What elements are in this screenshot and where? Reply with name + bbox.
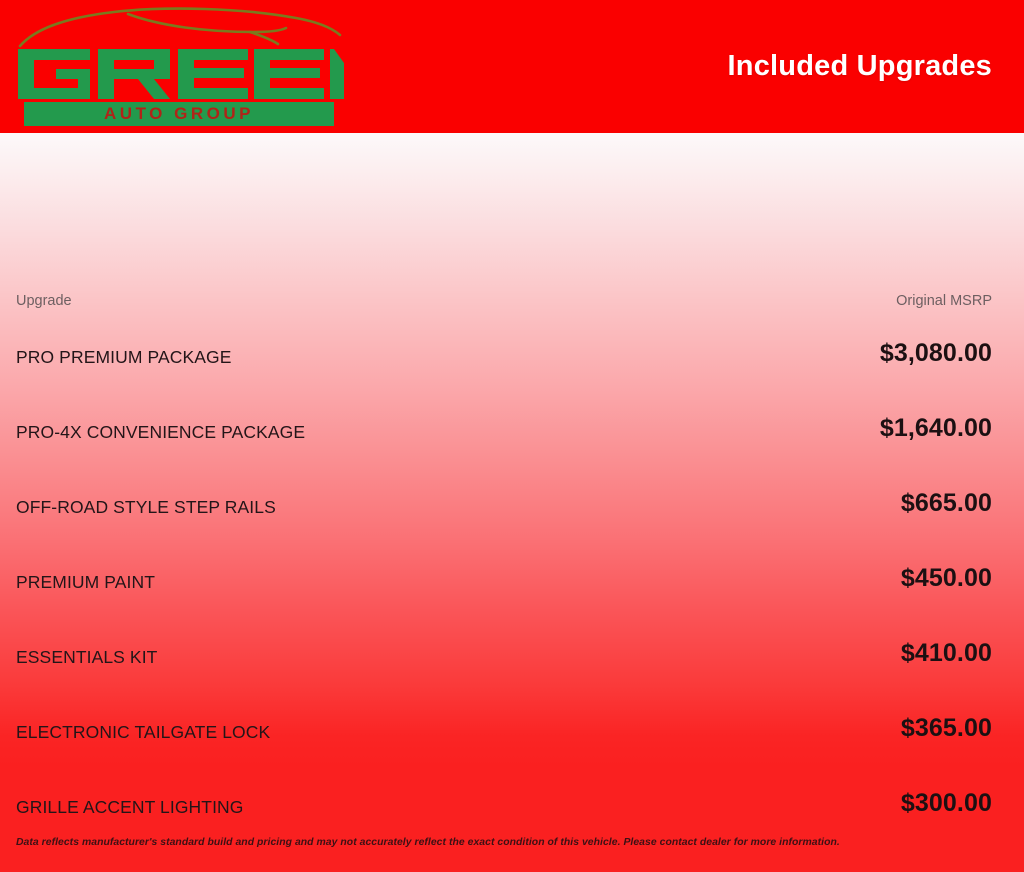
upgrade-price: $365.00: [901, 714, 992, 743]
table-row[interactable]: PRO-4X CONVENIENCE PACKAGE $1,640.00: [0, 422, 1024, 497]
upgrade-name: ESSENTIALS KIT: [16, 647, 157, 668]
table-row[interactable]: ELECTRONIC TAILGATE LOCK $365.00: [0, 722, 1024, 797]
table-row[interactable]: ESSENTIALS KIT $410.00: [0, 647, 1024, 722]
upgrade-price: $3,080.00: [880, 339, 992, 368]
upgrade-name: PRO PREMIUM PACKAGE: [16, 347, 232, 368]
disclaimer-text: Data reflects manufacturer's standard bu…: [16, 837, 1014, 848]
upgrade-name: OFF-ROAD STYLE STEP RAILS: [16, 497, 276, 518]
column-header-upgrade: Upgrade: [16, 293, 72, 309]
table-row[interactable]: OFF-ROAD STYLE STEP RAILS $665.00: [0, 497, 1024, 572]
upgrade-price: $300.00: [901, 789, 992, 818]
upgrade-price: $1,640.00: [880, 414, 992, 443]
logo-subtitle-text: AUTO GROUP: [104, 104, 254, 123]
upgrade-name: PREMIUM PAINT: [16, 572, 155, 593]
upgrade-price: $450.00: [901, 564, 992, 593]
logo-graphic: AUTO GROUP: [10, 2, 350, 130]
upgrade-name: ELECTRONIC TAILGATE LOCK: [16, 722, 270, 743]
table-row[interactable]: PRO PREMIUM PACKAGE $3,080.00: [0, 347, 1024, 422]
table-row[interactable]: PREMIUM PAINT $450.00: [0, 572, 1024, 647]
page-header: AUTO GROUP Included Upgrades: [0, 0, 1024, 133]
logo-wordmark-glyphs: [18, 49, 344, 99]
upgrade-price: $410.00: [901, 639, 992, 668]
car-silhouette-icon: [20, 9, 340, 46]
dealer-logo[interactable]: AUTO GROUP: [10, 2, 350, 130]
column-header-msrp: Original MSRP: [896, 293, 992, 309]
upgrade-price: $665.00: [901, 489, 992, 518]
table-row[interactable]: GRILLE ACCENT LIGHTING $300.00: [0, 797, 1024, 872]
page-title: Included Upgrades: [728, 50, 992, 83]
upgrade-name: GRILLE ACCENT LIGHTING: [16, 797, 244, 818]
upgrades-table: Upgrade Original MSRP PRO PREMIUM PACKAG…: [0, 133, 1024, 768]
upgrades-page: AUTO GROUP Included Upgrades Upgrade Ori…: [0, 0, 1024, 768]
upgrade-name: PRO-4X CONVENIENCE PACKAGE: [16, 422, 305, 443]
